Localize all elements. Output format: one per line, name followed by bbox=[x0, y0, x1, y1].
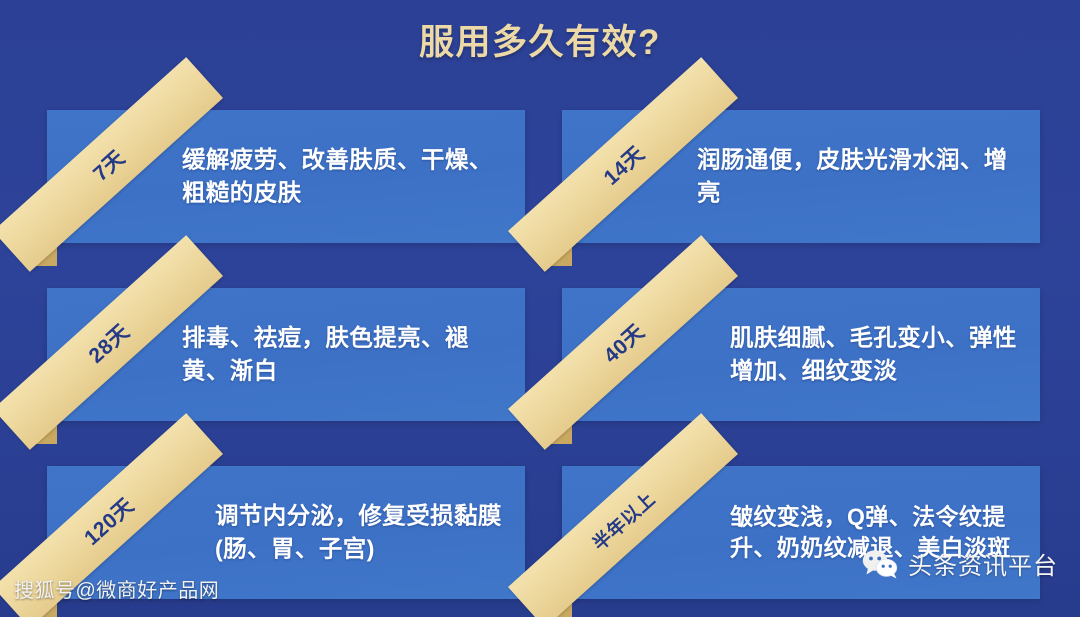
ribbon-badge: 28天 bbox=[30, 271, 205, 446]
ribbon-fold-bottom-icon bbox=[548, 598, 572, 617]
ribbon-fold-bottom-icon bbox=[548, 420, 572, 444]
ribbon-band: 半年以上 bbox=[508, 413, 738, 617]
card-text: 润肠通便，皮肤光滑水润、增亮 bbox=[697, 143, 1026, 210]
benefit-card-28-days: 28天 排毒、祛痘，肤色提亮、褪黄、渐白 bbox=[47, 288, 525, 421]
ribbon-badge: 40天 bbox=[545, 271, 720, 446]
ribbon-badge: 半年以上 bbox=[545, 449, 720, 617]
benefit-card-7-days: 7天 缓解疲劳、改善肤质、干燥、粗糙的皮肤 bbox=[47, 110, 525, 243]
page-title: 服用多久有效? bbox=[0, 14, 1080, 65]
benefit-card-40-days: 40天 肌肤细腻、毛孔变小、弹性增加、细纹变淡 bbox=[562, 288, 1040, 421]
poster-canvas: 服用多久有效? 7天 缓解疲劳、改善肤质、干燥、粗糙的皮肤 14天 润肠通便，皮… bbox=[0, 0, 1080, 617]
ribbon-fold-bottom-icon bbox=[33, 242, 57, 266]
ribbon-badge: 14天 bbox=[545, 93, 720, 268]
ribbon-badge: 7天 bbox=[30, 93, 205, 268]
card-text: 肌肤细腻、毛孔变小、弹性增加、细纹变淡 bbox=[730, 321, 1026, 388]
watermark-sohu: 搜狐号@微商好产品网 bbox=[14, 574, 219, 603]
ribbon-label: 半年以上 bbox=[586, 485, 660, 555]
card-text: 调节内分泌，修复受损黏膜(肠、胃、子宫) bbox=[215, 499, 511, 566]
ribbon-fold-bottom-icon bbox=[548, 242, 572, 266]
card-text: 排毒、祛痘，肤色提亮、褪黄、渐白 bbox=[182, 321, 511, 388]
watermark-wechat-account: 头条资讯平台 bbox=[861, 546, 1058, 581]
ribbon-fold-top-icon bbox=[178, 274, 202, 298]
ribbon-fold-top-icon bbox=[178, 96, 202, 120]
card-text: 缓解疲劳、改善肤质、干燥、粗糙的皮肤 bbox=[182, 143, 511, 210]
ribbon-label: 14天 bbox=[596, 138, 650, 191]
wechat-account-name: 头条资讯平台 bbox=[908, 546, 1058, 581]
ribbon-label: 28天 bbox=[81, 316, 135, 369]
wechat-icon bbox=[861, 549, 899, 579]
ribbon-fold-top-icon bbox=[693, 452, 717, 476]
ribbon-label: 40天 bbox=[596, 316, 650, 369]
ribbon-fold-bottom-icon bbox=[33, 420, 57, 444]
ribbon-label: 7天 bbox=[85, 142, 130, 187]
benefit-card-14-days: 14天 润肠通便，皮肤光滑水润、增亮 bbox=[562, 110, 1040, 243]
ribbon-label: 120天 bbox=[76, 490, 139, 551]
ribbon-fold-top-icon bbox=[693, 274, 717, 298]
ribbon-fold-top-icon bbox=[693, 96, 717, 120]
ribbon-band: 40天 bbox=[508, 235, 738, 450]
ribbon-fold-top-icon bbox=[178, 452, 202, 476]
